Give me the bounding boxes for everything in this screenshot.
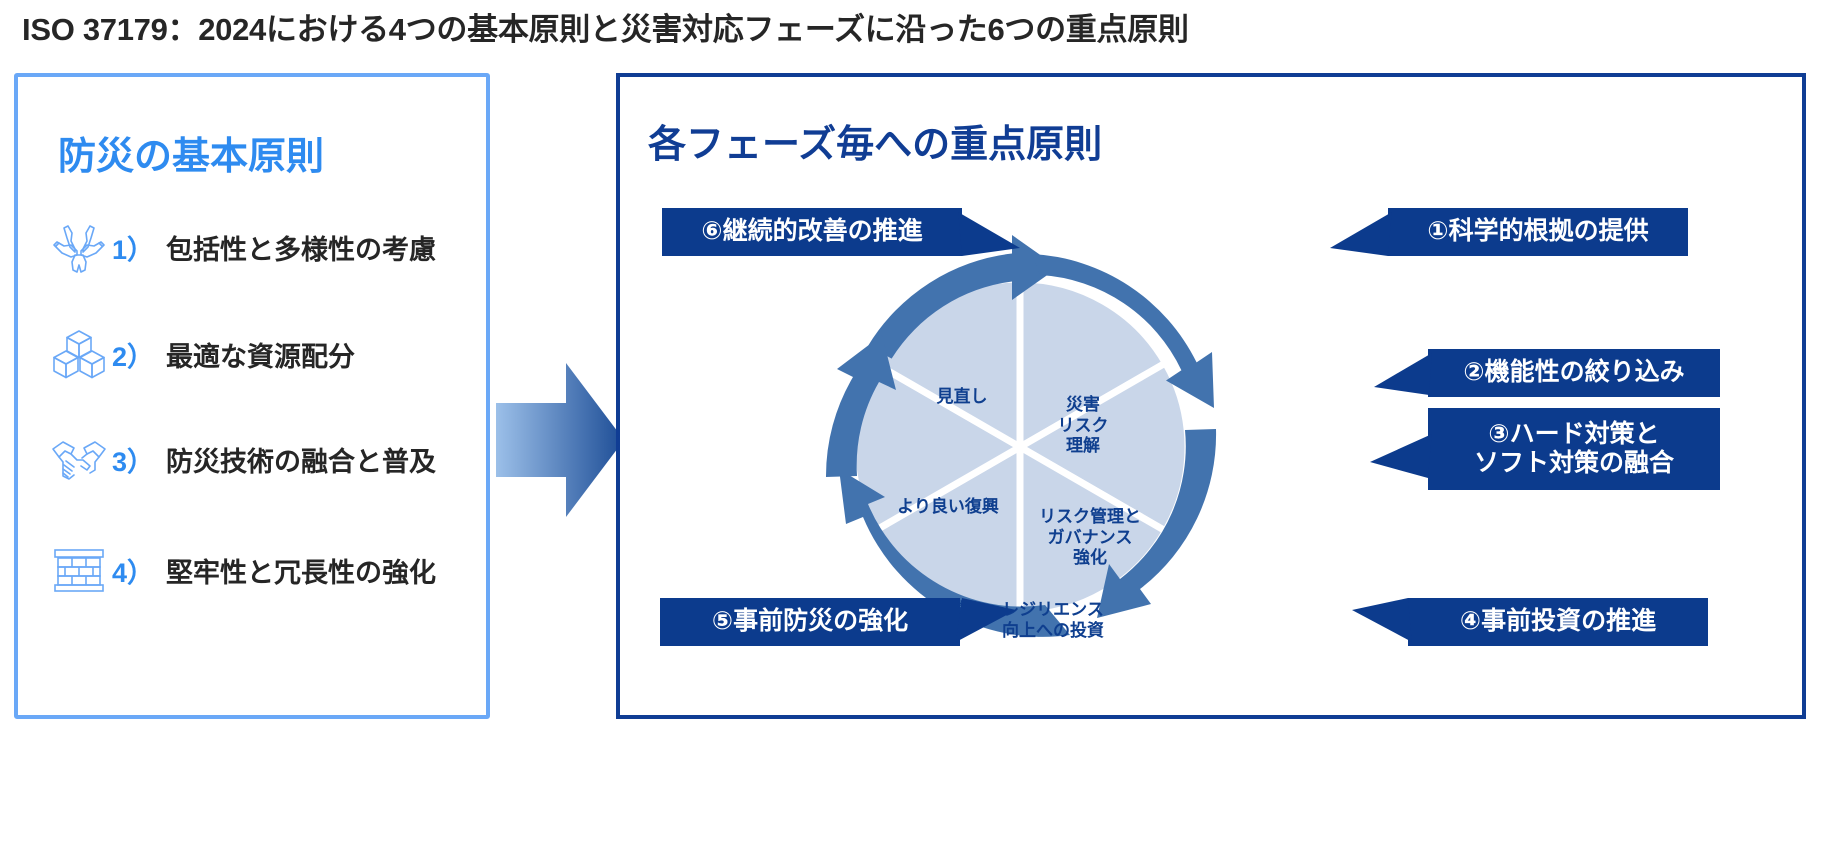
callout-3-hard-soft-measures[interactable]: ③ハード対策と ソフト対策の融合 [1428,408,1720,490]
principle-number-3: 3） [112,440,154,479]
segment-label-disaster-risk: 災害 リスク 理解 [1028,395,1138,457]
principle-item-1: 1） 包括性と多様性の考慮 [48,217,478,277]
callout-1-scientific-evidence[interactable]: ①科学的根拠の提供 [1388,208,1688,256]
callout-4-advance-investment[interactable]: ④事前投資の推進 [1408,598,1708,646]
segment-label-review: 見直し [912,387,1012,408]
callout-6-tail [958,212,1022,265]
flow-arrow-icon [496,355,626,525]
segment-label-build-back-better: より良い復興 [888,497,1008,518]
page-title: ISO 37179：2024における4つの基本原則と災害対応フェーズに沿った6つ… [22,4,1189,49]
joined-hands-icon [48,218,110,276]
principle-item-4: 4） 堅牢性と冗長性の強化 [48,540,478,600]
principle-label-4: 堅牢性と冗長性の強化 [166,551,436,590]
principle-number-2: 2） [112,335,154,374]
callout-2-tail [1374,353,1432,404]
principle-item-2: 2） 最適な資源配分 [48,324,478,384]
callout-5-tail [956,596,1018,653]
callout-2-functionality-focus[interactable]: ②機能性の絞り込み [1428,349,1720,397]
callout-3-tail [1370,430,1432,487]
callout-1-tail [1330,212,1392,265]
handshake-icon [48,430,110,488]
callout-6-continuous-improvement[interactable]: ⑥継続的改善の推進 [662,208,962,256]
segment-label-risk-governance: リスク管理と ガバナンス 強化 [1020,507,1160,569]
principle-number-4: 4） [112,551,154,590]
brick-wall-icon [48,541,110,599]
callout-5-preemptive-prevention[interactable]: ⑤事前防災の強化 [660,598,960,646]
principle-label-2: 最適な資源配分 [166,335,355,374]
principle-label-3: 防災技術の融合と普及 [166,440,436,479]
principle-label-1: 包括性と多様性の考慮 [166,228,436,267]
principle-item-3: 3） 防災技術の融合と普及 [48,429,478,489]
callout-4-tail [1352,596,1412,651]
principle-number-1: 1） [112,228,154,267]
basic-principles-panel: 防災の基本原則 1） 包括性と多様性の考慮 [14,73,490,719]
stacked-cubes-icon [48,325,110,383]
left-panel-heading: 防災の基本原則 [58,125,324,180]
